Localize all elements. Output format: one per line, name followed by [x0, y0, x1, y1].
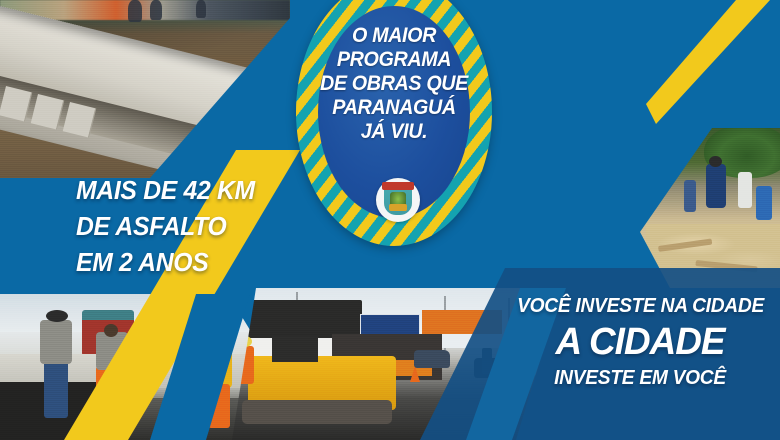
badge-line-3: DE OBRAS QUE [309, 72, 478, 96]
paranagua-coat-of-arms-icon [376, 178, 420, 222]
right-headline-line-2: A CIDADE [516, 320, 764, 364]
photo-worker-legs [44, 360, 68, 418]
emblem-banner [382, 182, 414, 190]
right-headline-line-3: INVESTE EM VOCÊ [517, 364, 763, 392]
photo-worker [756, 186, 772, 220]
emblem-crest-base [389, 204, 407, 211]
photo-figure [128, 0, 142, 22]
photo-worker [706, 164, 726, 208]
photo-worker-hat [46, 310, 68, 322]
badge-line-4: PARANAGUÁ [309, 96, 478, 120]
photo-traffic-cone [410, 366, 420, 382]
poster-canvas: O MAIOR PROGRAMA DE OBRAS QUE PARANAGUÁ … [0, 0, 780, 440]
photo-worker [684, 180, 696, 212]
badge-line-2: PROGRAMA [309, 48, 478, 72]
photo-roller-cab [272, 336, 318, 362]
photo-figure [150, 0, 162, 20]
badge-line-1: O MAIOR [309, 24, 478, 48]
photo-worker-head [104, 324, 118, 337]
photo-roller-drum [242, 400, 392, 424]
photo-figure [196, 0, 206, 18]
left-headline-line-3: EM 2 ANOS [76, 244, 314, 280]
badge-line-5: JÁ VIU. [309, 120, 478, 144]
photo-car [414, 350, 450, 368]
left-headline: MAIS DE 42 KM DE ASFALTO EM 2 ANOS [76, 172, 326, 280]
photo-worker [738, 172, 752, 208]
photo-worker-head [709, 156, 722, 167]
photo-worker-torso [40, 320, 72, 364]
left-headline-line-2: DE ASFALTO [76, 208, 314, 244]
right-headline-line-1: VOCÊ INVESTE NA CIDADE [517, 292, 763, 320]
left-headline-line-1: MAIS DE 42 KM [76, 172, 314, 208]
badge-headline: O MAIOR PROGRAMA DE OBRAS QUE PARANAGUÁ … [309, 24, 478, 144]
right-headline: VOCÊ INVESTE NA CIDADE A CIDADE INVESTE … [512, 292, 768, 392]
